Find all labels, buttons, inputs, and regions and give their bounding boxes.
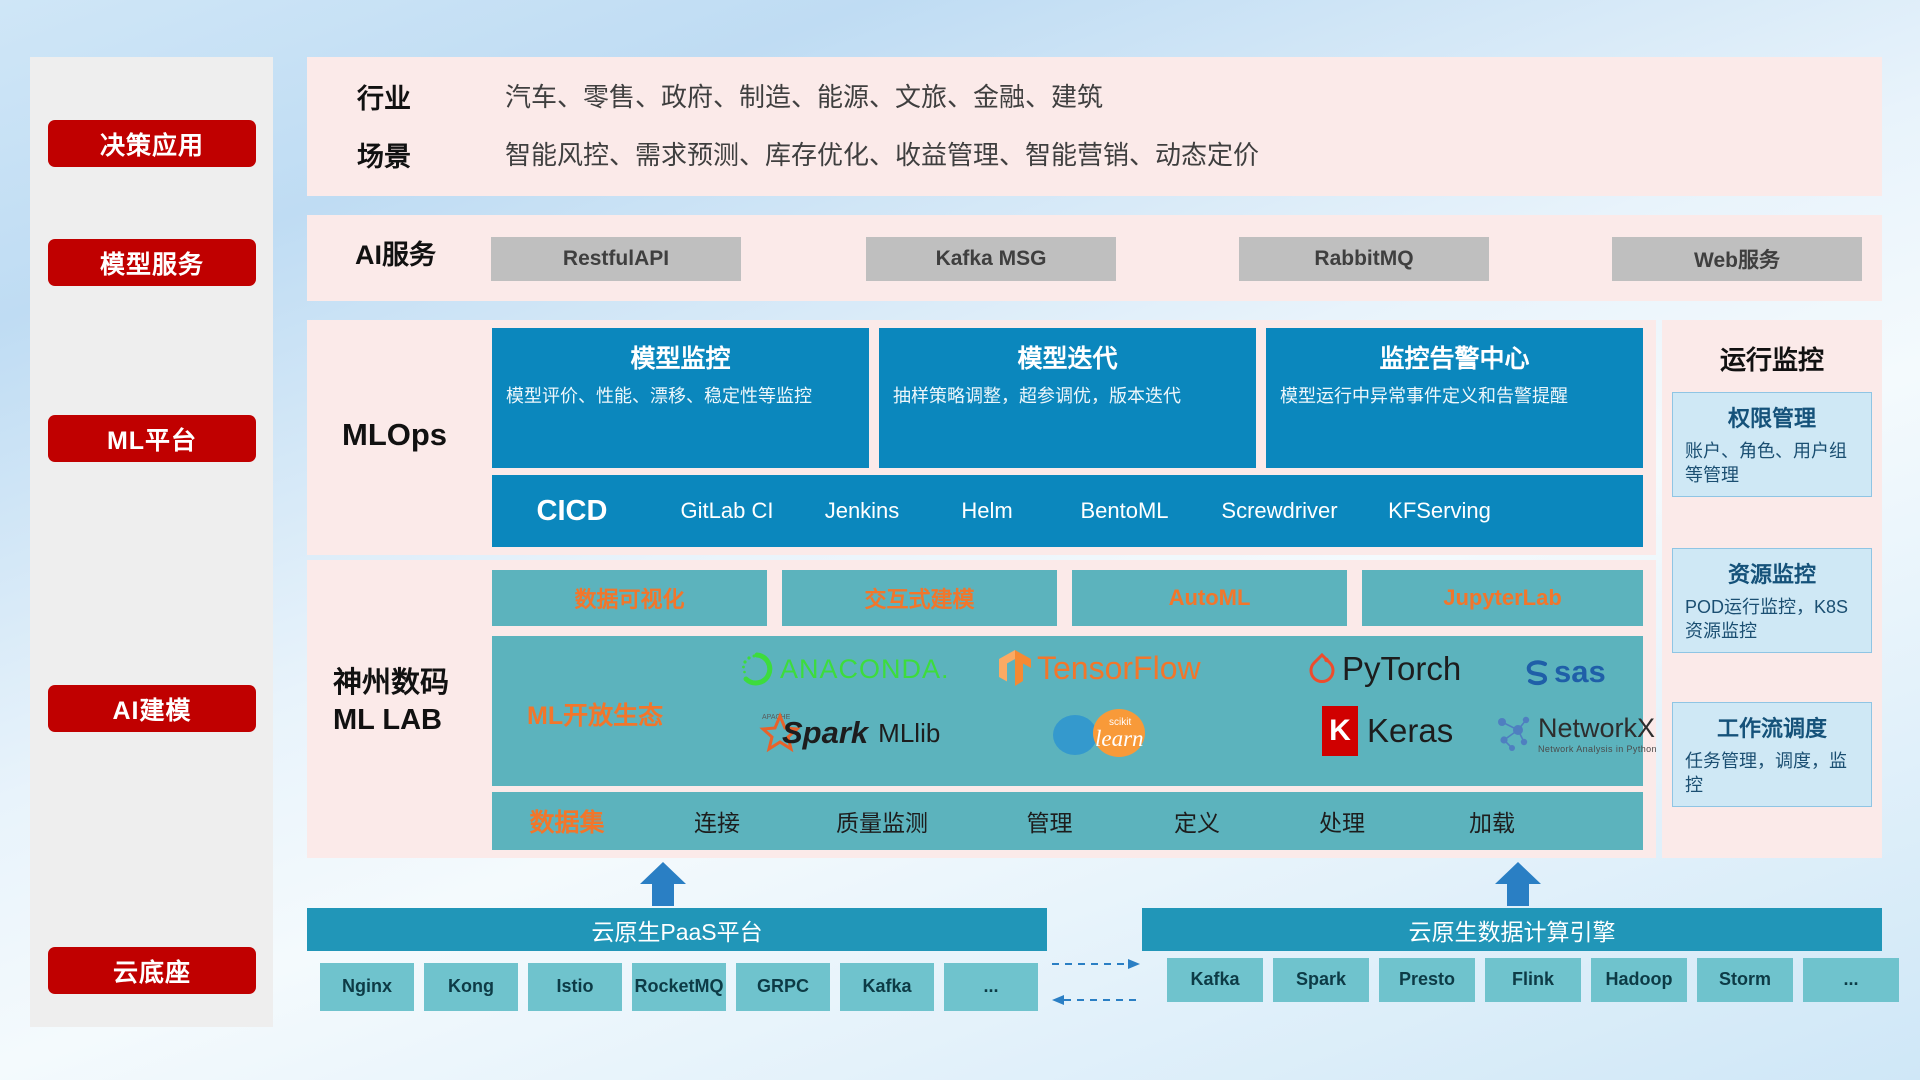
sas-logo: sas xyxy=(1522,654,1606,690)
svg-text:learn: learn xyxy=(1095,726,1144,751)
cicd-item-screwdriver[interactable]: Screwdriver xyxy=(1197,498,1362,523)
monitoring-title: 运行监控 xyxy=(1662,340,1882,377)
paas-chip-nginx[interactable]: Nginx xyxy=(320,963,414,1011)
ai-service-label: AI服务 xyxy=(355,238,436,273)
pytorch-wordmark: PyTorch xyxy=(1342,650,1461,688)
card-desc: POD运行监控，K8S资源监控 xyxy=(1685,595,1859,644)
tensorflow-mark-icon xyxy=(997,648,1033,688)
card-title: 工作流调度 xyxy=(1685,711,1859,743)
mllab-label-line1: 神州数码 xyxy=(333,665,449,702)
paas-chip-grpc[interactable]: GRPC xyxy=(736,963,830,1011)
anaconda-wordmark: ANACONDA. xyxy=(780,654,950,685)
arrow-head-right-icon xyxy=(1128,959,1140,969)
monitoring-column: 运行监控 权限管理 账户、角色、用户组等管理 资源监控 POD运行监控，K8S资… xyxy=(1662,320,1882,858)
scenario-value: 智能风控、需求预测、库存优化、收益管理、智能营销、动态定价 xyxy=(505,140,1259,170)
cicd-item-bentoml[interactable]: BentoML xyxy=(1052,498,1197,523)
service-pill-web-service[interactable]: Web服务 xyxy=(1612,237,1862,281)
industry-value: 汽车、零售、政府、制造、能源、文旅、金融、建筑 xyxy=(505,82,1103,112)
pytorch-mark-icon xyxy=(1307,652,1337,686)
modeling-band: 神州数码 ML LAB 数据可视化 交互式建模 AutoML JupyterLa… xyxy=(307,560,1656,858)
networkx-mark-icon xyxy=(1492,712,1534,754)
paas-chip-istio[interactable]: Istio xyxy=(528,963,622,1011)
cicd-item-helm[interactable]: Helm xyxy=(922,498,1052,523)
scenario-label: 场景 xyxy=(357,142,411,172)
networkx-wordmark: NetworkX xyxy=(1538,713,1657,744)
ml-ecosystem-block: ML开放生态 ANACONDA. TensorFlow xyxy=(492,636,1643,786)
card-title: 模型迭代 xyxy=(893,339,1242,375)
dataset-bar: 数据集 连接 质量监测 管理 定义 处理 加载 xyxy=(492,792,1643,850)
arrow-up-paas xyxy=(640,862,686,911)
compute-chip-more[interactable]: ... xyxy=(1803,958,1899,1002)
keras-wordmark: Keras xyxy=(1367,712,1453,750)
networkx-tagline: Network Analysis in Python xyxy=(1538,744,1657,754)
paas-chip-kafka[interactable]: Kafka xyxy=(840,963,934,1011)
arrow-head-left-icon xyxy=(1052,995,1064,1005)
mlops-label: MLOps xyxy=(342,415,447,455)
card-desc: 任务管理，调度，监控 xyxy=(1685,749,1859,798)
paas-chip-more[interactable]: ... xyxy=(944,963,1038,1011)
paas-chip-kong[interactable]: Kong xyxy=(424,963,518,1011)
sas-mark-icon xyxy=(1522,657,1552,687)
monitoring-card-workflow[interactable]: 工作流调度 任务管理，调度，监控 xyxy=(1672,702,1872,807)
bidirectional-dashed-connector xyxy=(1050,950,1142,1020)
mlops-band: MLOps 模型监控 模型评价、性能、漂移、稳定性等监控 模型迭代 抽样策略调整… xyxy=(307,320,1656,555)
compute-chip-flink[interactable]: Flink xyxy=(1485,958,1581,1002)
tool-tab-interactive-modeling[interactable]: 交互式建模 xyxy=(782,570,1057,626)
tool-tab-automl[interactable]: AutoML xyxy=(1072,570,1347,626)
dataset-head: 数据集 xyxy=(492,803,642,839)
card-desc: 模型评价、性能、漂移、稳定性等监控 xyxy=(506,384,855,409)
rail-item-decision-app[interactable]: 决策应用 xyxy=(48,120,256,167)
compute-chip-presto[interactable]: Presto xyxy=(1379,958,1475,1002)
card-title: 资源监控 xyxy=(1685,557,1859,589)
sas-wordmark: sas xyxy=(1554,654,1606,690)
mlops-card-model-iteration[interactable]: 模型迭代 抽样策略调整，超参调优，版本迭代 xyxy=(879,328,1256,468)
mlops-card-alert-center[interactable]: 监控告警中心 模型运行中异常事件定义和告警提醒 xyxy=(1266,328,1643,468)
keras-mark-icon: K xyxy=(1322,706,1358,756)
service-pill-restfulapi[interactable]: RestfulAPI xyxy=(491,237,741,281)
mllab-label-line2: ML LAB xyxy=(333,702,449,739)
card-title: 权限管理 xyxy=(1685,401,1859,433)
rail-item-ai-modeling[interactable]: AI建模 xyxy=(48,685,256,732)
card-desc: 账户、角色、用户组等管理 xyxy=(1685,439,1859,488)
paas-bar-title: 云原生PaaS平台 xyxy=(307,908,1047,951)
anaconda-logo: ANACONDA. xyxy=(740,652,950,686)
compute-bar-title: 云原生数据计算引擎 xyxy=(1142,908,1882,951)
dataset-item-load[interactable]: 加载 xyxy=(1417,804,1567,838)
compute-chip-spark[interactable]: Spark xyxy=(1273,958,1369,1002)
anaconda-mark-icon xyxy=(740,652,774,686)
dataset-item-manage[interactable]: 管理 xyxy=(972,804,1127,838)
scikit-learn-mark-icon: scikit learn xyxy=(1047,708,1167,760)
pytorch-logo: PyTorch xyxy=(1307,650,1461,688)
monitoring-card-resource[interactable]: 资源监控 POD运行监控，K8S资源监控 xyxy=(1672,548,1872,653)
application-band: 行业 汽车、零售、政府、制造、能源、文旅、金融、建筑 场景 智能风控、需求预测、… xyxy=(307,57,1882,196)
spark-wordmark: Spark xyxy=(782,715,868,751)
cicd-item-jenkins[interactable]: Jenkins xyxy=(802,498,922,523)
rail-item-cloud-base[interactable]: 云底座 xyxy=(48,947,256,994)
cicd-title: CICD xyxy=(492,495,652,528)
card-title: 模型监控 xyxy=(506,339,855,375)
cicd-bar: CICD GitLab CI Jenkins Helm BentoML Scre… xyxy=(492,475,1643,547)
spark-mllib-logo: APACHE Spark MLlib xyxy=(742,710,940,756)
tool-tab-data-visualization[interactable]: 数据可视化 xyxy=(492,570,767,626)
mllib-wordmark: MLlib xyxy=(878,718,940,749)
tool-tab-jupyterlab[interactable]: JupyterLab xyxy=(1362,570,1643,626)
rail-item-ml-platform[interactable]: ML平台 xyxy=(48,415,256,462)
architecture-diagram: 决策应用 模型服务 ML平台 AI建模 云底座 行业 汽车、零售、政府、制造、能… xyxy=(0,0,1920,1080)
industry-label: 行业 xyxy=(357,84,411,114)
mllab-label: 神州数码 ML LAB xyxy=(333,665,449,739)
tensorflow-wordmark: TensorFlow xyxy=(1037,650,1201,687)
dataset-item-process[interactable]: 处理 xyxy=(1267,804,1417,838)
compute-chip-kafka[interactable]: Kafka xyxy=(1167,958,1263,1002)
compute-chip-hadoop[interactable]: Hadoop xyxy=(1591,958,1687,1002)
ai-service-band: AI服务 RestfulAPI Kafka MSG RabbitMQ Web服务 xyxy=(307,215,1882,301)
card-desc: 模型运行中异常事件定义和告警提醒 xyxy=(1280,384,1629,409)
arrow-up-compute xyxy=(1495,862,1541,911)
monitoring-card-permission[interactable]: 权限管理 账户、角色、用户组等管理 xyxy=(1672,392,1872,497)
arrow-up-icon xyxy=(640,862,686,906)
keras-logo: K Keras xyxy=(1322,706,1453,756)
dataset-item-define[interactable]: 定义 xyxy=(1127,804,1267,838)
networkx-logo: NetworkX Network Analysis in Python xyxy=(1492,712,1657,754)
service-pill-kafka-msg[interactable]: Kafka MSG xyxy=(866,237,1116,281)
card-title: 监控告警中心 xyxy=(1280,339,1629,375)
card-desc: 抽样策略调整，超参调优，版本迭代 xyxy=(893,384,1242,409)
cicd-item-gitlab-ci[interactable]: GitLab CI xyxy=(652,498,802,523)
scikit-learn-logo: scikit learn xyxy=(1047,708,1167,760)
left-rail: 决策应用 模型服务 ML平台 AI建模 云底座 xyxy=(30,57,273,1027)
tensorflow-logo: TensorFlow xyxy=(997,648,1201,688)
compute-chip-storm[interactable]: Storm xyxy=(1697,958,1793,1002)
paas-chip-rocketmq[interactable]: RocketMQ xyxy=(632,963,726,1011)
dataset-item-connect[interactable]: 连接 xyxy=(642,804,792,838)
ml-ecosystem-title: ML开放生态 xyxy=(527,696,663,732)
mlops-card-model-monitoring[interactable]: 模型监控 模型评价、性能、漂移、稳定性等监控 xyxy=(492,328,869,468)
service-pill-rabbitmq[interactable]: RabbitMQ xyxy=(1239,237,1489,281)
arrow-up-icon xyxy=(1495,862,1541,906)
cicd-item-kfserving[interactable]: KFServing xyxy=(1362,498,1517,523)
rail-item-model-service[interactable]: 模型服务 xyxy=(48,239,256,286)
dataset-item-quality[interactable]: 质量监测 xyxy=(792,804,972,838)
